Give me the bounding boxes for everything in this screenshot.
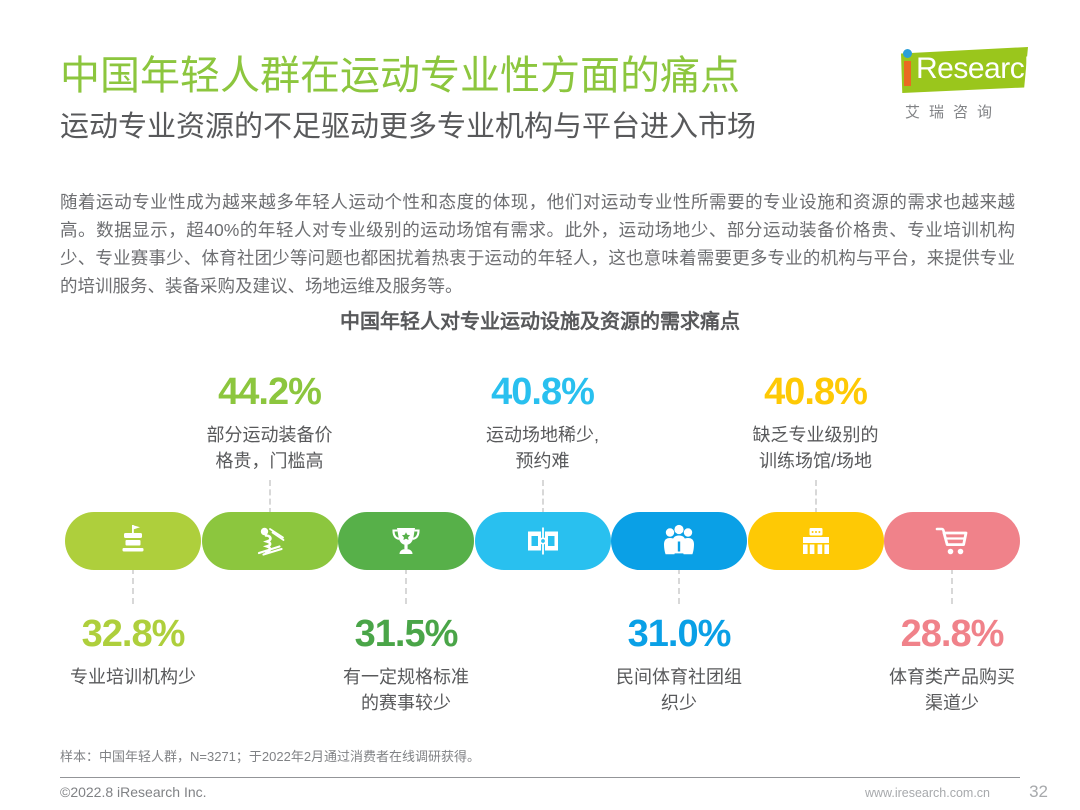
shopping-cart-icon	[932, 521, 972, 561]
icon-pill-podium	[65, 512, 201, 570]
stat-label: 体育类产品购买 渠道少	[864, 664, 1040, 716]
court-icon	[523, 521, 563, 561]
trophy-icon	[386, 521, 426, 561]
icon-pill-people-group	[611, 512, 747, 570]
skier-icon	[250, 521, 290, 561]
stat-label: 有一定规格标准 的赛事较少	[318, 664, 494, 716]
icon-pill-court	[475, 512, 611, 570]
connector-line	[269, 480, 271, 514]
connector-line	[405, 568, 407, 604]
stat-column: 31.0%民间体育社团组 织少	[591, 612, 767, 716]
page-title: 中国年轻人群在运动专业性方面的痛点	[60, 48, 1020, 104]
slide-header: 中国年轻人群在运动专业性方面的痛点 运动专业资源的不足驱动更多专业机构与平台进入…	[60, 48, 1020, 168]
icon-pill-stadium	[748, 512, 884, 570]
stat-percentage: 40.8%	[455, 370, 631, 414]
page-subtitle: 运动专业资源的不足驱动更多专业机构与平台进入市场	[60, 106, 1020, 148]
connector-line	[542, 480, 544, 514]
stat-column: 28.8%体育类产品购买 渠道少	[864, 612, 1040, 716]
connector-line	[678, 568, 680, 604]
connector-line	[951, 568, 953, 604]
website-url: www.iresearch.com.cn	[865, 786, 990, 800]
stat-label: 专业培训机构少	[45, 664, 221, 690]
connector-line	[815, 480, 817, 514]
stat-column: 31.5%有一定规格标准 的赛事较少	[318, 612, 494, 716]
iresearch-logo: Research 艾瑞咨询	[883, 45, 1028, 130]
logo-chinese-name: 艾瑞咨询	[905, 101, 1001, 122]
stat-label: 缺乏专业级别的 训练场馆/场地	[728, 422, 904, 474]
stat-label: 民间体育社团组 织少	[591, 664, 767, 716]
connector-line	[132, 568, 134, 604]
stat-percentage: 31.5%	[318, 612, 494, 656]
sample-footnote: 样本：中国年轻人群，N=3271；于2022年2月通过消费者在线调研获得。	[60, 746, 480, 765]
stat-label: 运动场地稀少, 预约难	[455, 422, 631, 474]
stat-column: 44.2%部分运动装备价 格贵，门槛高	[182, 370, 358, 474]
people-group-icon	[659, 521, 699, 561]
stat-label: 部分运动装备价 格贵，门槛高	[182, 422, 358, 474]
stat-percentage: 32.8%	[45, 612, 221, 656]
chart-title: 中国年轻人对专业运动设施及资源的需求痛点	[0, 305, 1080, 334]
icon-pill-trophy	[338, 512, 474, 570]
icon-pill-row	[0, 512, 1080, 570]
stat-percentage: 31.0%	[591, 612, 767, 656]
stat-column: 40.8%缺乏专业级别的 训练场馆/场地	[728, 370, 904, 474]
stat-percentage: 40.8%	[728, 370, 904, 414]
page-number: 32	[1029, 782, 1048, 802]
body-paragraph: 随着运动专业性成为越来越多年轻人运动个性和态度的体现，他们对运动专业性所需要的专…	[60, 188, 1015, 300]
logo-mark: Research	[883, 45, 1028, 99]
copyright-text: ©2022.8 iResearch Inc.	[60, 784, 207, 800]
icon-pill-shopping-cart	[884, 512, 1020, 570]
logo-wordmark: Research	[916, 52, 1040, 86]
podium-icon	[113, 521, 153, 561]
stat-percentage: 44.2%	[182, 370, 358, 414]
logo-i-dot-icon	[903, 49, 912, 58]
stat-column: 32.8%专业培训机构少	[45, 612, 221, 690]
icon-pill-skier	[202, 512, 338, 570]
logo-i-stem-icon	[904, 61, 911, 86]
stat-percentage: 28.8%	[864, 612, 1040, 656]
footer-divider	[60, 777, 1020, 778]
stadium-icon	[796, 521, 836, 561]
stat-column: 40.8%运动场地稀少, 预约难	[455, 370, 631, 474]
